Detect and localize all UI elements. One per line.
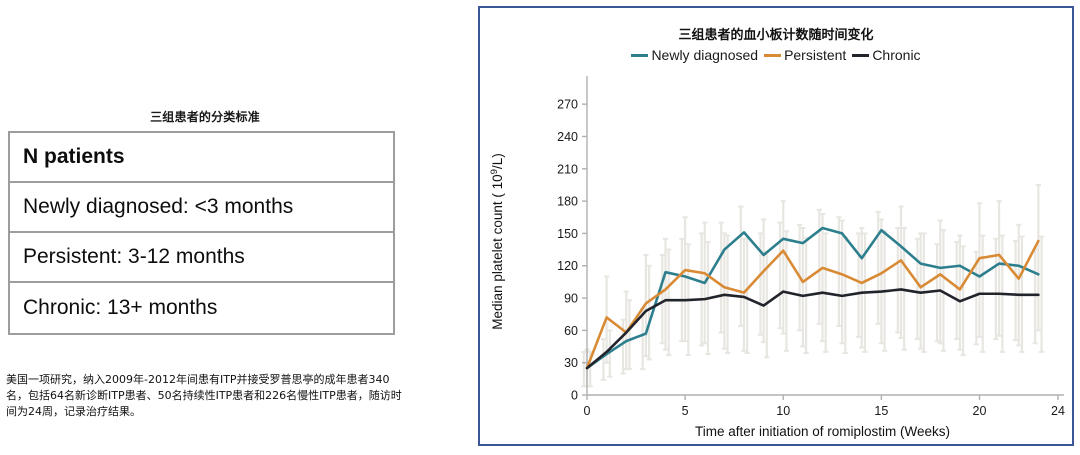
table-cell-newly-diagnosed: Newly diagnosed: <3 months [23, 195, 293, 219]
svg-text:15: 15 [874, 404, 888, 418]
svg-text:180: 180 [557, 195, 578, 209]
svg-text:5: 5 [682, 404, 689, 418]
svg-text:24: 24 [1051, 404, 1065, 418]
svg-text:120: 120 [557, 259, 578, 273]
table-row: Chronic: 13+ months [10, 283, 393, 333]
svg-text:10: 10 [776, 404, 790, 418]
series-lines-layer [587, 228, 1038, 368]
svg-text:240: 240 [557, 130, 578, 144]
svg-text:0: 0 [571, 389, 578, 403]
chart-panel: 三组患者的血小板计数随时间变化 Newly diagnosed Persiste… [478, 6, 1074, 446]
plot-area: 03060901201501802102402700510152024Time … [480, 66, 1072, 444]
svg-text:20: 20 [973, 404, 987, 418]
svg-text:90: 90 [564, 292, 578, 306]
legend-swatch-persistent [764, 54, 781, 57]
table-title: 三组患者的分类标准 [0, 108, 410, 125]
legend-label-persistent: Persistent [784, 47, 846, 63]
classification-table: N patients Newly diagnosed: <3 months Pe… [8, 131, 395, 335]
legend-label-newly-diagnosed: Newly diagnosed [651, 47, 758, 63]
table-cell-persistent: Persistent: 3-12 months [23, 245, 245, 269]
legend-label-chronic: Chronic [872, 47, 920, 63]
table-row: Persistent: 3-12 months [10, 233, 393, 283]
legend-swatch-chronic [852, 54, 869, 57]
chart-legend: Newly diagnosed Persistent Chronic [480, 47, 1072, 63]
study-caption: 美国一项研究，纳入2009年-2012年间患有ITP并接受罗普思亭的成年患者34… [6, 372, 406, 420]
svg-text:0: 0 [584, 404, 591, 418]
svg-text:150: 150 [557, 227, 578, 241]
svg-text:210: 210 [557, 162, 578, 176]
chart-title: 三组患者的血小板计数随时间变化 [480, 24, 1072, 43]
svg-text:Median platelet count ( 109/L): Median platelet count ( 109/L) [489, 153, 506, 329]
table-header-cell: N patients [23, 145, 125, 169]
legend-item-chronic: Chronic [852, 47, 920, 63]
svg-text:270: 270 [557, 98, 578, 112]
errorbars-layer [581, 185, 1044, 386]
legend-item-persistent: Persistent [764, 47, 846, 63]
legend-swatch-newly-diagnosed [631, 54, 648, 57]
svg-text:60: 60 [564, 324, 578, 338]
table-row: Newly diagnosed: <3 months [10, 183, 393, 233]
classification-panel: 三组患者的分类标准 N patients Newly diagnosed: <3… [0, 0, 470, 455]
table-header-row: N patients [10, 133, 393, 183]
table-cell-chronic: Chronic: 13+ months [23, 296, 217, 320]
svg-text:Time after initiation of romip: Time after initiation of romiplostim (We… [695, 424, 950, 439]
svg-text:30: 30 [564, 356, 578, 370]
legend-item-newly-diagnosed: Newly diagnosed [631, 47, 758, 63]
